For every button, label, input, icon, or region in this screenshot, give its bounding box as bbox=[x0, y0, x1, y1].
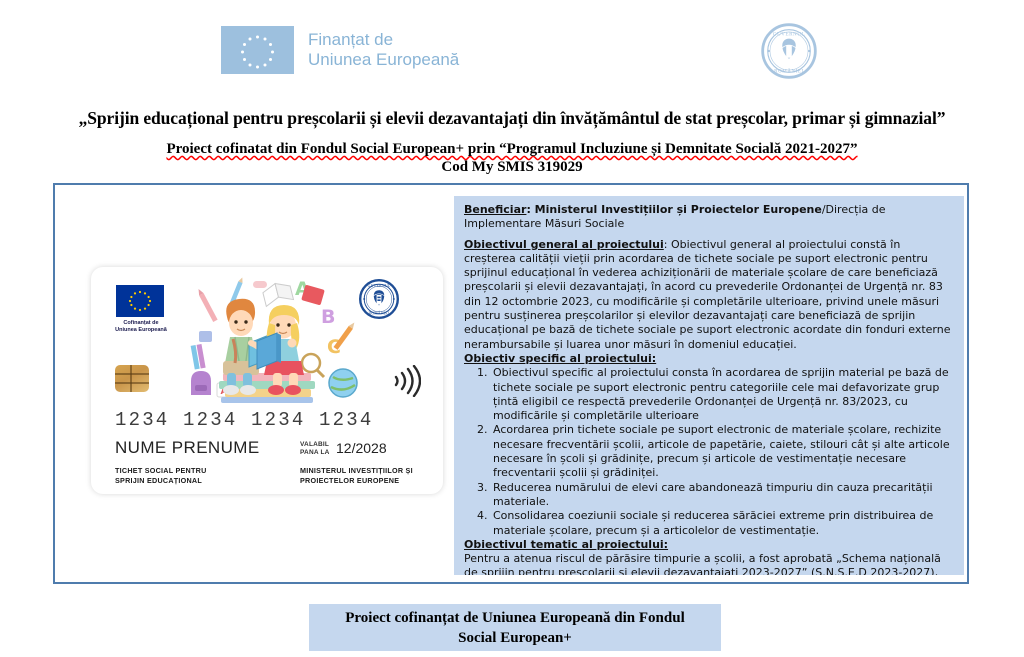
card-eu-caption-line2: Uniunea Europeană bbox=[99, 327, 183, 334]
eu-funding-label-line2: Uniunea Europeană bbox=[308, 50, 459, 70]
project-code: Cod My SMIS 319029 bbox=[0, 159, 1024, 176]
svg-text:ROMÂNIEI: ROMÂNIEI bbox=[774, 66, 804, 74]
card-number: 1234 1234 1234 1234 bbox=[115, 409, 373, 431]
svg-text:GUVERNUL: GUVERNUL bbox=[368, 284, 391, 288]
list-item: Consolidarea coeziunii sociale și reduce… bbox=[491, 509, 955, 538]
card-footer-left-line1: TICHET SOCIAL PENTRU bbox=[115, 466, 207, 476]
general-objective-label: Obiectivul general al proiectului bbox=[464, 238, 664, 251]
general-objective-block: Obiectivul general al proiectului: Obiec… bbox=[464, 238, 955, 352]
page-subtitle: Proiect cofinatat din Fondul Social Euro… bbox=[0, 140, 1024, 159]
card-footer-right: MINISTERUL INVESTIȚIILOR ȘI PROIECTELOR … bbox=[300, 466, 413, 485]
card-holder-name: NUME PRENUME bbox=[115, 438, 260, 458]
card-romanian-seal-icon: GUVERNUL ROMÂNIEI bbox=[359, 279, 399, 319]
card-footer-right-line2: PROIECTELOR EUROPENE bbox=[300, 476, 413, 486]
card-footer-right-line1: MINISTERUL INVESTIȚIILOR ȘI bbox=[300, 466, 413, 476]
card-expiry-date: 12/2028 bbox=[336, 440, 387, 456]
eu-stars-icon bbox=[221, 26, 294, 74]
social-ticket-card: Cofinanțat de Uniunea Europeană bbox=[91, 267, 443, 494]
card-eu-caption-line1: Cofinanțat de bbox=[99, 320, 183, 327]
thematic-objective-label: Obiectivul tematic al proiectului: bbox=[464, 538, 955, 552]
content-frame: Cofinanțat de Uniunea Europeană bbox=[53, 183, 969, 584]
project-info-panel: Beneficiar: Ministerul Investițiilor și … bbox=[454, 196, 964, 575]
list-item: Obiectivul specific al proiectului const… bbox=[491, 366, 955, 423]
header-logos: Finanțat de Uniunea Europeană GUVERNUL R… bbox=[0, 18, 1024, 86]
card-eu-flag-icon bbox=[116, 285, 164, 317]
bottom-banner: Proiect cofinanțat de Uniunea Europeană … bbox=[309, 604, 721, 651]
list-item: Acordarea prin tichete sociale pe suport… bbox=[491, 423, 955, 480]
beneficiary-line: Beneficiar: Ministerul Investițiilor și … bbox=[464, 203, 955, 232]
svg-text:GUVERNUL: GUVERNUL bbox=[773, 31, 805, 37]
card-valid-label-line2: PANA LA bbox=[300, 449, 330, 457]
card-footer-left: TICHET SOCIAL PENTRU SPRIJIN EDUCAȚIONAL bbox=[115, 466, 207, 485]
specific-objective-label: Obiectiv specific al proiectului: bbox=[464, 352, 955, 366]
card-valid-label: VALABIL PANA LA bbox=[300, 441, 330, 456]
eu-funding-logo: Finanțat de Uniunea Europeană bbox=[221, 26, 459, 74]
svg-text:B: B bbox=[321, 306, 335, 328]
beneficiary-label: Beneficiar bbox=[464, 203, 526, 216]
page-subtitle-text: Proiect cofinatat din Fondul Social Euro… bbox=[166, 141, 857, 157]
card-footer-left-line2: SPRIJIN EDUCAȚIONAL bbox=[115, 476, 207, 486]
thematic-objective-text: Pentru a atenua riscul de părăsire timpu… bbox=[464, 552, 955, 575]
card-eu-stars-icon bbox=[116, 285, 164, 317]
eu-flag-icon bbox=[221, 26, 294, 74]
eu-funding-label-line1: Finanțat de bbox=[308, 30, 459, 50]
beneficiary-name: Ministerul Investițiilor și Proiectelor … bbox=[535, 203, 822, 216]
contactless-icon bbox=[391, 365, 421, 397]
specific-objective-list: Obiectivul specific al proiectului const… bbox=[464, 366, 955, 538]
page-title: „Sprijin educațional pentru preșcolarii … bbox=[0, 108, 1024, 129]
children-reading-illustration: A B C bbox=[183, 273, 383, 403]
card-chip-icon bbox=[115, 365, 149, 392]
card-eu-caption: Cofinanțat de Uniunea Europeană bbox=[99, 320, 183, 334]
svg-text:ROMÂNIEI: ROMÂNIEI bbox=[369, 311, 390, 316]
card-valid-label-line1: VALABIL bbox=[300, 441, 330, 449]
list-item: Reducerea numărului de elevi care abando… bbox=[491, 481, 955, 510]
eu-funding-label: Finanțat de Uniunea Europeană bbox=[308, 30, 459, 70]
general-objective-text: Obiectivul general al proiectului constă… bbox=[464, 238, 950, 351]
romanian-government-seal-icon: GUVERNUL ROMÂNIEI bbox=[761, 23, 817, 79]
bottom-banner-text: Proiect cofinanțat de Uniunea Europeană … bbox=[329, 608, 701, 648]
